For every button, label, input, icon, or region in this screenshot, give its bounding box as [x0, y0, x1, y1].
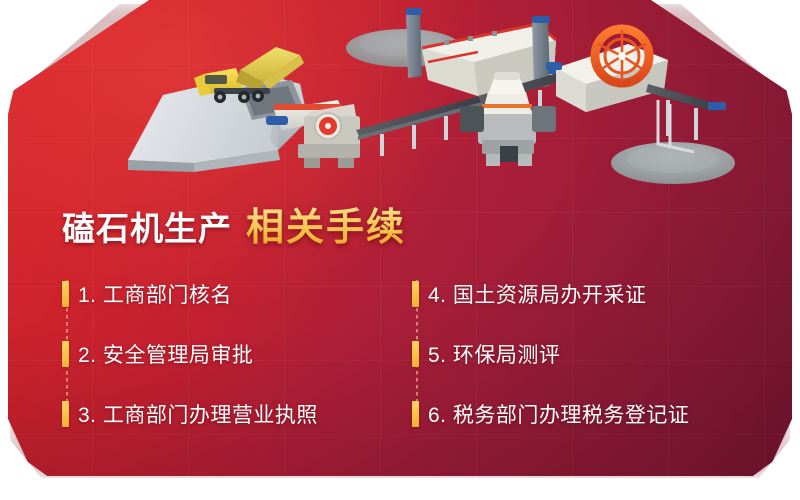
list-item-label: 3. 工商部门办理营业执照 [78, 399, 318, 429]
banner-root: 磕石机生产 相关手续 1. 工商部门核名 2. 安全管理局审批 3. 工商部门办… [0, 0, 800, 500]
list-marker-bar-icon [62, 281, 69, 307]
list-marker-bar-icon [62, 341, 69, 367]
list-marker-bar-icon [412, 341, 419, 367]
list-item[interactable]: 6. 税务部门办理税务登记证 [412, 384, 762, 444]
list-item-label: 2. 安全管理局审批 [78, 339, 253, 369]
list-item-label: 5. 环保局测评 [428, 339, 560, 369]
procedure-column-left: 1. 工商部门核名 2. 安全管理局审批 3. 工商部门办理营业执照 [62, 264, 412, 444]
sand-washer-wheel [546, 29, 668, 112]
list-item[interactable]: 3. 工商部门办理营业执照 [62, 384, 412, 444]
title-highlight: 相关手续 [246, 196, 406, 251]
list-item[interactable]: 5. 环保局测评 [412, 324, 762, 384]
procedure-column-right: 4. 国土资源局办开采证 5. 环保局测评 6. 税务部门办理税务登记证 [412, 264, 762, 444]
list-item-label: 4. 国土资源局办开采证 [428, 279, 646, 309]
title-primary: 磕石机生产 [62, 202, 232, 250]
illustration-scene [8, 0, 792, 190]
procedure-list: 1. 工商部门核名 2. 安全管理局审批 3. 工商部门办理营业执照 4. 国土… [62, 264, 762, 444]
list-marker-bar-icon [62, 401, 69, 427]
list-marker-bar-icon [412, 281, 419, 307]
banner-title: 磕石机生产 相关手续 [62, 196, 406, 251]
list-item[interactable]: 1. 工商部门核名 [62, 264, 412, 324]
banner-card: 磕石机生产 相关手续 1. 工商部门核名 2. 安全管理局审批 3. 工商部门办… [8, 0, 792, 476]
list-item-label: 6. 税务部门办理税务登记证 [428, 399, 689, 429]
belt-conveyor [646, 84, 726, 152]
list-item[interactable]: 2. 安全管理局审批 [62, 324, 412, 384]
list-item[interactable]: 4. 国土资源局办开采证 [412, 264, 762, 324]
list-marker-bar-icon [412, 401, 419, 427]
list-item-label: 1. 工商部门核名 [78, 279, 232, 309]
